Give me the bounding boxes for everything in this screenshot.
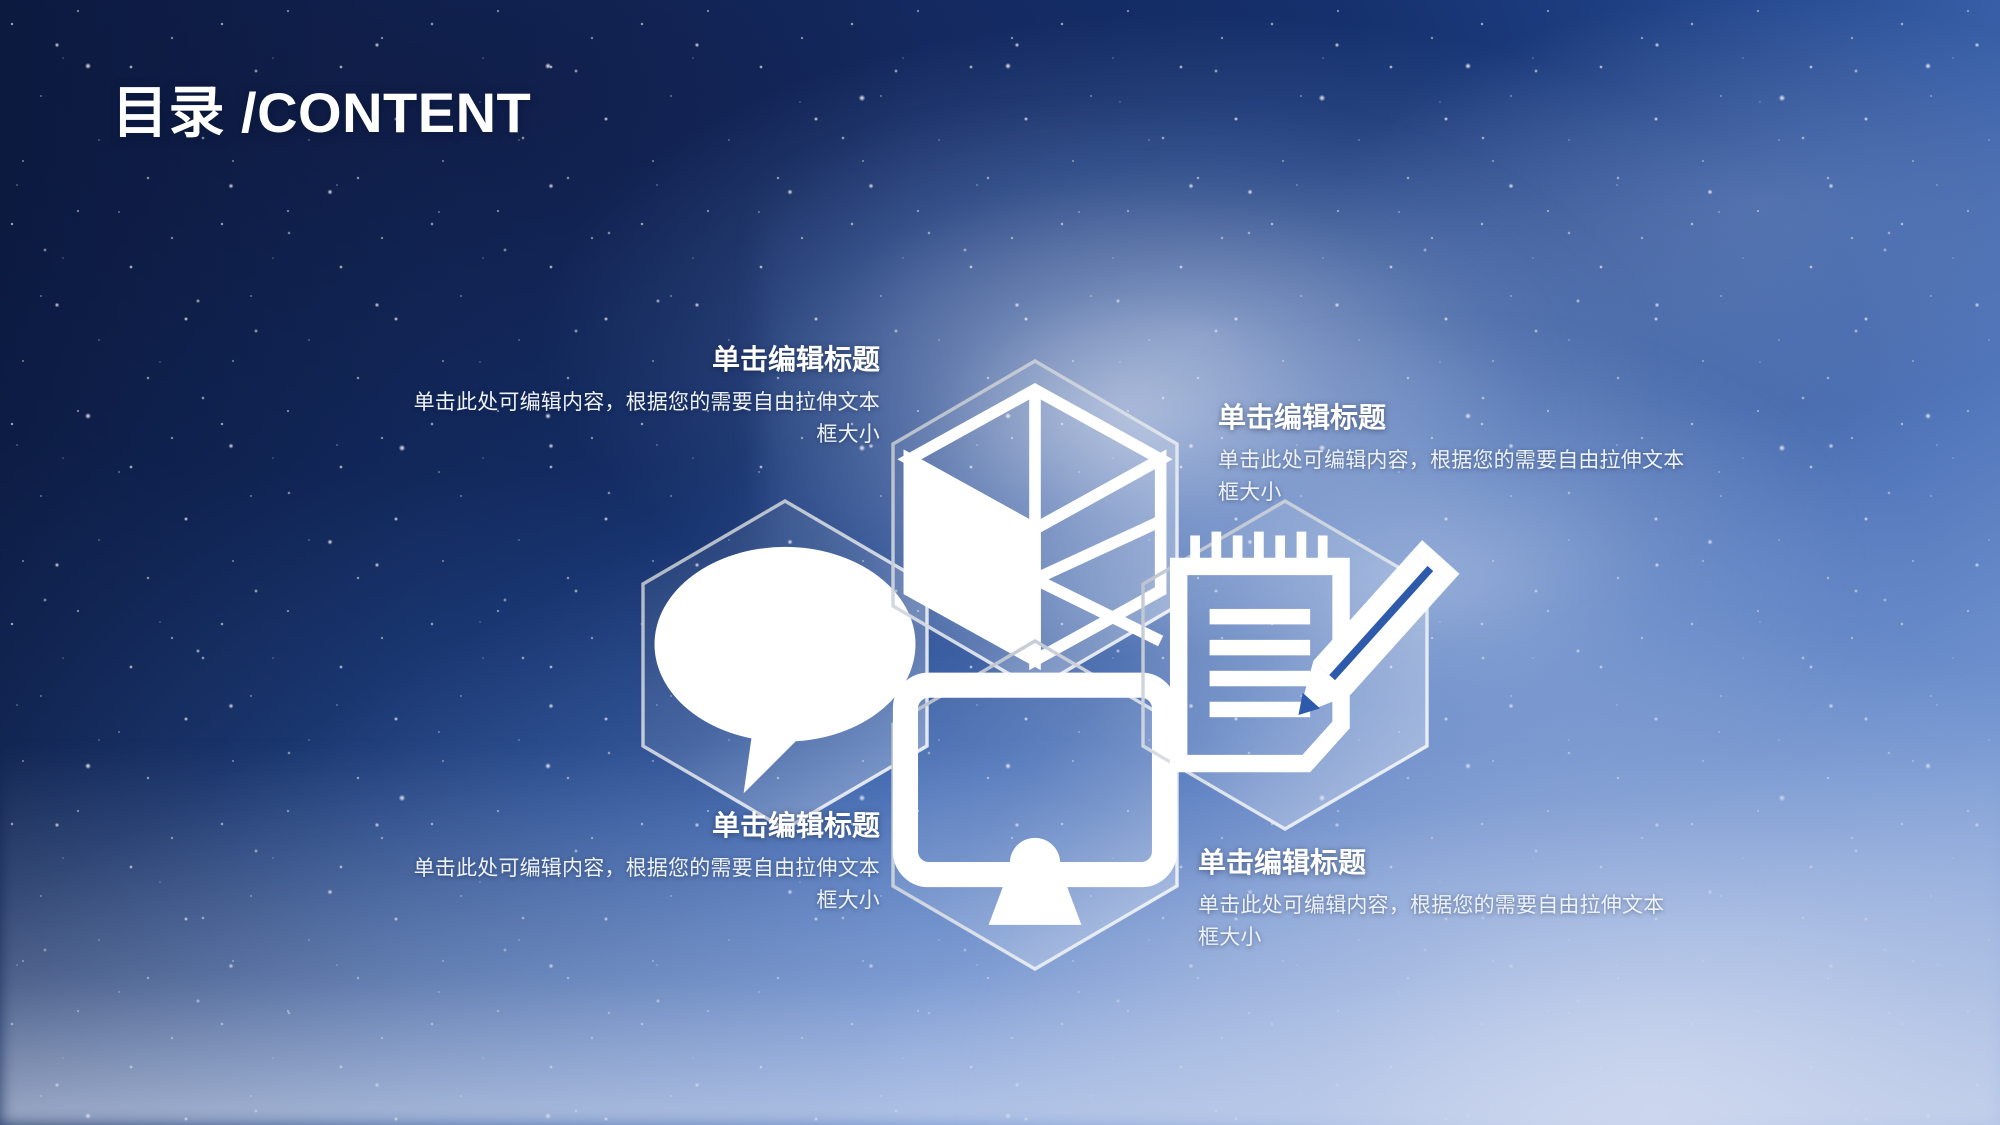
caption-block-3: 单击编辑标题 单击此处可编辑内容，根据您的需要自由拉伸文本框大小 (400, 808, 880, 916)
caption-body: 单击此处可编辑内容，根据您的需要自由拉伸文本框大小 (400, 853, 880, 916)
caption-body: 单击此处可编辑内容，根据您的需要自由拉伸文本框大小 (1218, 445, 1688, 508)
hexagon-tile-monitor[interactable] (890, 638, 1180, 972)
caption-title: 单击编辑标题 (400, 808, 880, 843)
caption-body: 单击此处可编辑内容，根据您的需要自由拉伸文本框大小 (400, 387, 880, 450)
hexagon-shape (1143, 501, 1427, 829)
hexagon-cluster (0, 0, 2000, 1125)
caption-body: 单击此处可编辑内容，根据您的需要自由拉伸文本框大小 (1198, 890, 1668, 953)
caption-title: 单击编辑标题 (400, 342, 880, 377)
hexagon-tile-notepad[interactable] (1140, 498, 1430, 832)
caption-title: 单击编辑标题 (1218, 400, 1688, 435)
presentation-slide: 目录 /CONTENT (0, 0, 2000, 1125)
hexagon-tile-speech-bubble[interactable] (640, 498, 930, 832)
caption-block-1: 单击编辑标题 单击此处可编辑内容，根据您的需要自由拉伸文本框大小 (400, 342, 880, 450)
caption-block-2: 单击编辑标题 单击此处可编辑内容，根据您的需要自由拉伸文本框大小 (1218, 400, 1688, 508)
hexagon-shape (893, 641, 1177, 969)
hexagon-shape (643, 501, 927, 829)
caption-block-4: 单击编辑标题 单击此处可编辑内容，根据您的需要自由拉伸文本框大小 (1198, 845, 1668, 953)
caption-title: 单击编辑标题 (1198, 845, 1668, 880)
